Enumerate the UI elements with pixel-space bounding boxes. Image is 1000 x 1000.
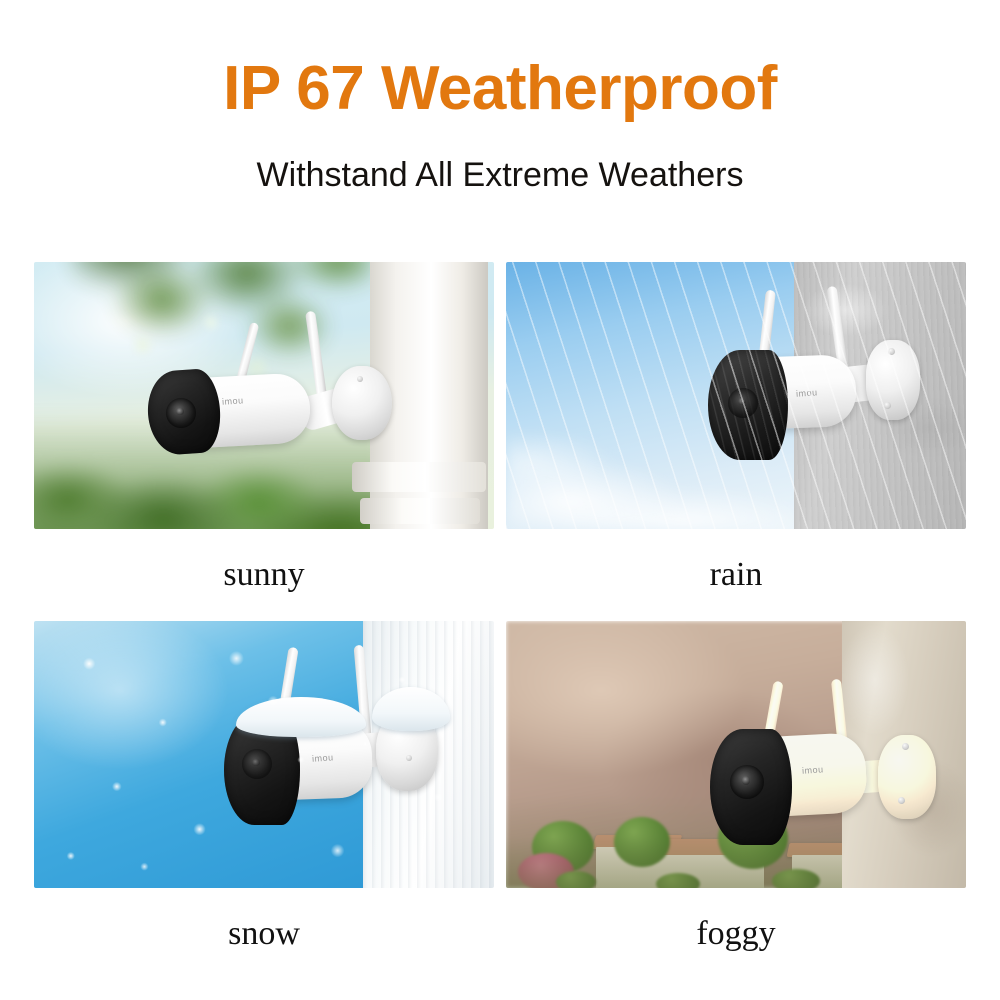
camera-lens [242, 749, 272, 779]
mount-screw-top [902, 743, 909, 750]
snow-cap-on-housing [236, 697, 366, 737]
mount-screw [406, 755, 412, 761]
security-camera-sunny: imou [114, 308, 444, 498]
caption-rain: rain [506, 529, 966, 621]
caption-sunny: sunny [34, 529, 494, 621]
security-camera-foggy: imou [706, 673, 966, 873]
camera-brand-logo: imou [222, 395, 244, 406]
camera-lens [728, 388, 758, 418]
camera-brand-logo: imou [796, 387, 818, 398]
photo-sunny[interactable]: imou [34, 262, 494, 529]
caption-snow: snow [34, 888, 494, 980]
mount-screw-bottom [884, 402, 891, 409]
antenna-right [305, 311, 327, 398]
mount-screw [357, 376, 363, 382]
photo-rain[interactable]: imou [506, 262, 966, 529]
camera-brand-logo: imou [312, 752, 334, 763]
photo-foggy[interactable]: imou [506, 621, 966, 888]
mount-screw-top [888, 348, 895, 355]
security-camera-rain: imou [706, 284, 966, 484]
weather-cell-snow: imou snow [34, 621, 494, 980]
mount-screw-bottom [898, 797, 905, 804]
page-subtitle: Withstand All Extreme Weathers [0, 120, 1000, 192]
page-title: IP 67 Weatherproof [0, 0, 1000, 120]
weather-cell-foggy: imou foggy [506, 621, 966, 980]
photo-snow[interactable]: imou [34, 621, 494, 888]
caption-foggy: foggy [506, 888, 966, 980]
camera-lens [730, 765, 764, 799]
security-camera-snow: imou [224, 637, 494, 847]
camera-lens [166, 398, 196, 428]
weather-cell-rain: imou rain [506, 262, 966, 621]
porch-post-collar-lower [360, 498, 480, 524]
camera-brand-logo: imou [802, 764, 824, 775]
header-block: IP 67 Weatherproof Withstand All Extreme… [0, 0, 1000, 192]
snow-cap-on-mount [372, 687, 450, 731]
weather-gallery-grid: imou sunny imou rain [34, 262, 966, 980]
weather-cell-sunny: imou sunny [34, 262, 494, 621]
